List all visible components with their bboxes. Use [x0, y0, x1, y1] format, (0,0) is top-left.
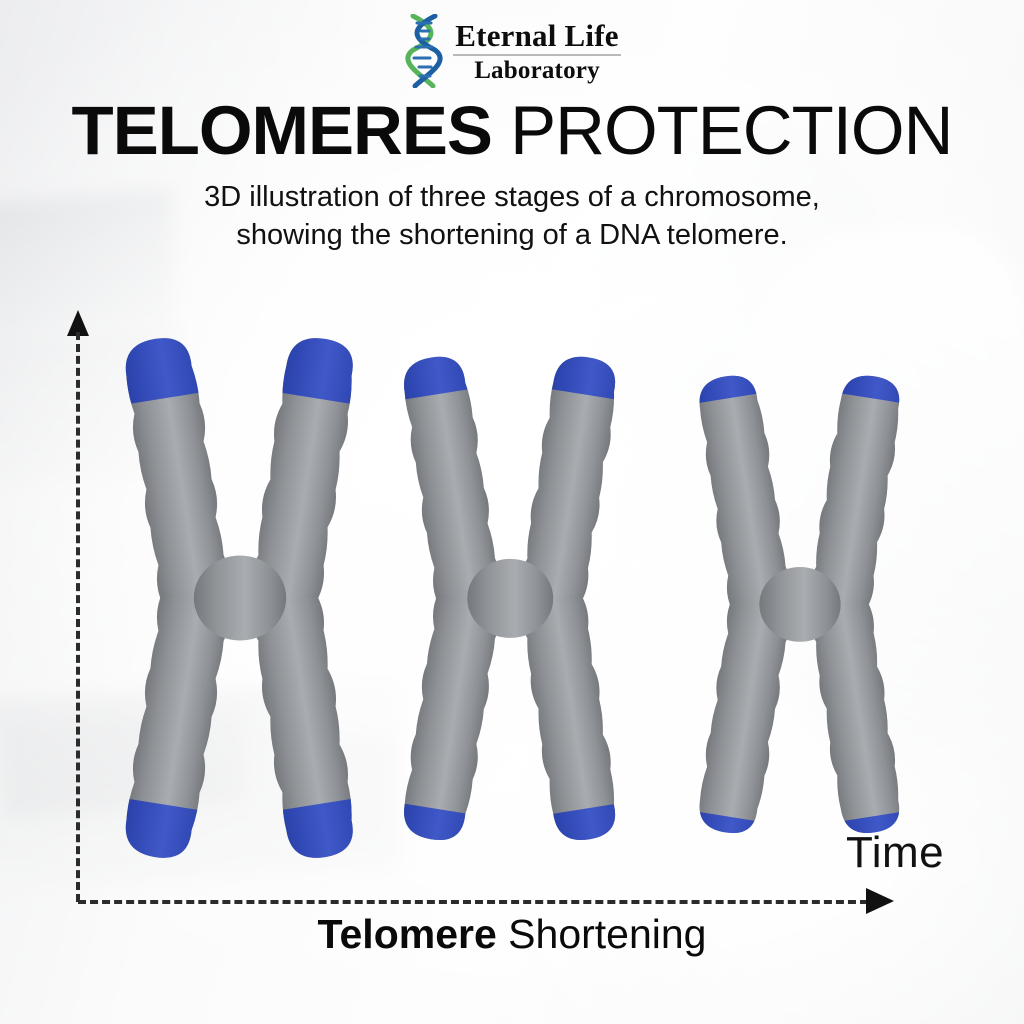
page-subtitle: 3D illustration of three stages of a chr… [0, 178, 1024, 255]
page-title: TELOMERES PROTECTION [0, 96, 1024, 165]
telomere-cap [384, 348, 484, 401]
subtitle-line-2: showing the shortening of a DNA telomere… [0, 216, 1024, 254]
x-axis-arrow-icon [866, 888, 894, 914]
chart-caption: Telomere Shortening [0, 914, 1024, 955]
telomere-cap [383, 801, 483, 854]
brand-divider [453, 54, 620, 56]
centromere [759, 567, 840, 642]
caption-bold-part: Telomere [318, 911, 497, 957]
chromosome-stage-2 [394, 338, 627, 859]
x-axis-dashed-line [78, 900, 868, 904]
centromere [467, 559, 553, 638]
brand-name-primary: Eternal Life [453, 20, 620, 51]
caption-light-part: Shortening [508, 911, 706, 957]
telomere-cap [265, 329, 375, 406]
infographic-canvas: Eternal Life Laboratory TELOMERES PROTEC… [0, 0, 1024, 1024]
chromosome-stage-3 [690, 358, 910, 851]
y-axis-dashed-line [76, 332, 80, 902]
title-light-part: PROTECTION [510, 92, 952, 169]
brand-name-secondary: Laboratory [453, 58, 620, 83]
dna-helix-icon [403, 14, 447, 88]
centromere [194, 556, 286, 641]
chromosome-stage-1 [115, 318, 365, 878]
brand-logo: Eternal Life Laboratory [0, 14, 1024, 88]
title-bold-part: TELOMERES [72, 92, 492, 169]
subtitle-line-1: 3D illustration of three stages of a chr… [0, 178, 1024, 216]
